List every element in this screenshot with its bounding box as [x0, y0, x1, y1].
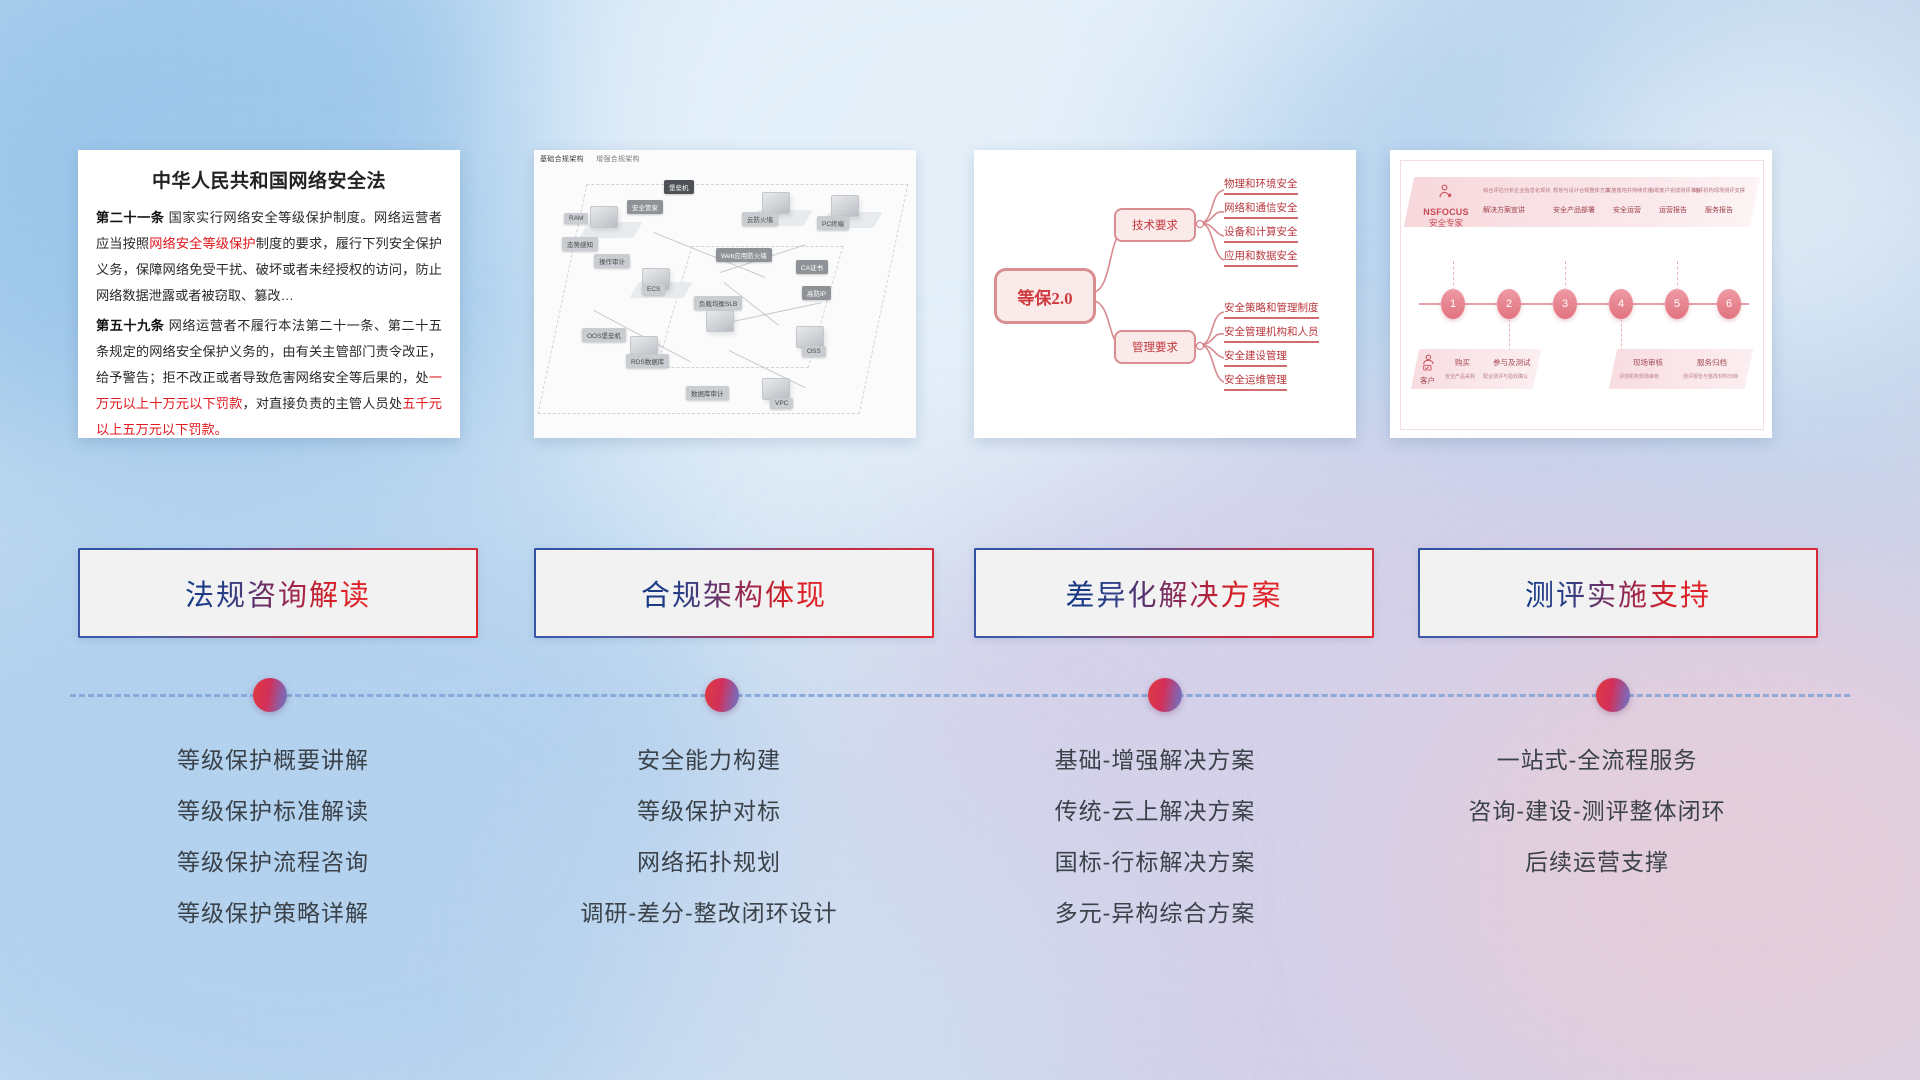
article-59-text-b: ，对直接负责的主管人员处: [242, 396, 402, 411]
architecture-node: 高防IP: [802, 286, 831, 300]
architecture-node: 数据库审计: [686, 386, 729, 400]
nsfocus-tick: [1621, 319, 1623, 351]
nsfocus-step: 1: [1441, 289, 1465, 319]
nsfocus-brand-sub: 安全专家: [1417, 217, 1475, 229]
article-59-label: 第五十九条: [96, 318, 164, 333]
architecture-tab-enhanced: 增强合规架构: [596, 156, 640, 163]
user-check-icon: [1421, 353, 1437, 371]
section-title-label: 法规咨询解读: [185, 572, 371, 614]
architecture-node: RDS数据库: [626, 354, 669, 368]
list-item: 等级保护概要讲解: [58, 735, 488, 786]
architecture-node: 态势感知: [562, 237, 598, 251]
nsfocus-footer-title: 现场审核: [1633, 357, 1663, 368]
architecture-cube: [831, 195, 859, 217]
mindmap-branch-technical: 技术要求: [1114, 208, 1196, 242]
timeline-node-1[interactable]: [253, 678, 287, 712]
architecture-cube: [762, 378, 790, 400]
nsfocus-header-title: 解决方案宣讲: [1483, 205, 1525, 215]
architecture-node: 安全管家: [627, 200, 663, 214]
list-item: 安全能力构建: [494, 735, 924, 786]
mindmap: 等保2.0 技术要求 物理和环境安全 网络和通信安全 设备和计算安全 应用和数据…: [974, 150, 1356, 438]
section-title-label: 合规架构体现: [641, 572, 827, 614]
mindmap-root-node: 等保2.0: [994, 268, 1096, 324]
nsfocus-header-subtitle: 实施落地并持续优化: [1606, 187, 1653, 194]
nsfocus-tick: [1509, 319, 1511, 351]
nsfocus-tick: [1453, 261, 1455, 291]
list-item: 传统-云上解决方案: [940, 786, 1370, 837]
nsfocus-customer-label: 客户: [1420, 375, 1435, 386]
architecture-node: 堡垒机: [664, 180, 694, 194]
timeline: [0, 660, 1920, 720]
section-detail-column-3: 基础-增强解决方案 传统-云上解决方案 国标-行标解决方案 多元-异构综合方案: [940, 735, 1370, 939]
nsfocus-step: 4: [1609, 289, 1633, 319]
nsfocus-brand: NSFOCUS 安全专家: [1417, 183, 1475, 229]
nsfocus-footer-title: 购买: [1455, 357, 1470, 368]
section-title-box-3[interactable]: 差异化解决方案: [974, 548, 1374, 638]
card-nsfocus-timeline: NSFOCUS 安全专家 综合评估分析企业信息化现状 规划与设计合规整体方案 实…: [1390, 150, 1772, 438]
list-item: 咨询-建设-测评整体闭环: [1382, 786, 1812, 837]
architecture-node: 负载均衡SLB: [694, 296, 742, 310]
list-item: 基础-增强解决方案: [940, 735, 1370, 786]
card-compliance-architecture: 基础合规架构 增强合规架构 堡垒机 安全管家 RAM 态势感知: [534, 150, 916, 438]
nsfocus-footer-sub: 安全产品采购: [1445, 373, 1475, 380]
law-article-59: 第五十九条 网络运营者不履行本法第二十一条、第二十五条规定的网络安全保护义务的，…: [96, 313, 442, 438]
law-title: 中华人民共和国网络安全法: [96, 166, 442, 193]
architecture-node: OOS堡垒机: [582, 328, 626, 342]
nsfocus-header-subtitle: 测评机构现场测评支撑: [1693, 187, 1745, 194]
mindmap-leaf: 安全策略和管理制度: [1224, 300, 1319, 319]
list-item: 多元-异构综合方案: [940, 888, 1370, 939]
mindmap-leaf: 安全建设管理: [1224, 348, 1287, 367]
architecture-cube: [706, 310, 734, 332]
timeline-dashed-line: [70, 694, 1850, 697]
timeline-node-4[interactable]: [1596, 678, 1630, 712]
nsfocus-customer-icon: [1421, 353, 1437, 376]
section-title-box-2[interactable]: 合规架构体现: [534, 548, 934, 638]
nsfocus-timeline-axis: [1419, 303, 1749, 305]
article-21-label: 第二十一条: [96, 210, 164, 225]
nsfocus-footer-sub: 测评报告与整改材料归档: [1683, 373, 1738, 380]
nsfocus-header-title: 安全运营: [1613, 205, 1641, 215]
architecture-node: OSS: [802, 346, 826, 357]
list-item: 一站式-全流程服务: [1382, 735, 1812, 786]
law-article-21: 第二十一条 国家实行网络安全等级保护制度。网络运营者应当按照网络安全等级保护制度…: [96, 205, 442, 309]
mindmap-leaf: 网络和通信安全: [1224, 200, 1298, 219]
architecture-cube: [590, 206, 618, 228]
mindmap-expand-dot: [1196, 342, 1204, 350]
nsfocus-brand-name: NSFOCUS: [1417, 207, 1475, 217]
architecture-node: ECS: [642, 284, 665, 295]
mindmap-branch-management: 管理要求: [1114, 330, 1196, 364]
card-cybersecurity-law: 中华人民共和国网络安全法 第二十一条 国家实行网络安全等级保护制度。网络运营者应…: [78, 150, 460, 438]
architecture-node: CA证书: [796, 260, 828, 274]
nsfocus-footer-band: [1609, 349, 1754, 389]
nsfocus-footer-sub: 配合测评与验收确认: [1483, 373, 1528, 380]
mindmap-leaf: 物理和环境安全: [1224, 176, 1298, 195]
timeline-node-3[interactable]: [1148, 678, 1182, 712]
section-title-label: 差异化解决方案: [1065, 572, 1282, 614]
section-title-box-4[interactable]: 测评实施支持: [1418, 548, 1818, 638]
architecture-node: 操作审计: [594, 254, 630, 268]
law-document: 中华人民共和国网络安全法 第二十一条 国家实行网络安全等级保护制度。网络运营者应…: [78, 150, 460, 438]
nsfocus-footer-title: 参与及测试: [1493, 357, 1531, 368]
nsfocus-header-title: 运营报告: [1659, 205, 1687, 215]
card-mindmap-dengbao: 等保2.0 技术要求 物理和环境安全 网络和通信安全 设备和计算安全 应用和数据…: [974, 150, 1356, 438]
architecture-tab-basic: 基础合规架构: [540, 156, 584, 163]
nsfocus-header-subtitle: 综合评估分析企业信息化现状: [1483, 187, 1550, 194]
architecture-node: VPC: [770, 398, 793, 409]
list-item: 等级保护策略详解: [58, 888, 488, 939]
section-title-row: 法规咨询解读 合规架构体现 差异化解决方案 测评实施支持: [0, 548, 1920, 640]
list-item: 网络拓扑规划: [494, 837, 924, 888]
nsfocus-step: 6: [1717, 289, 1741, 319]
section-detail-column-1: 等级保护概要讲解 等级保护标准解读 等级保护流程咨询 等级保护策略详解: [58, 735, 488, 939]
mindmap-leaf: 应用和数据安全: [1224, 248, 1298, 267]
list-item: 后续运营支撑: [1382, 837, 1812, 888]
section-detail-column-4: 一站式-全流程服务 咨询-建设-测评整体闭环 后续运营支撑: [1382, 735, 1812, 888]
nsfocus-header-title: 安全产品部署: [1553, 205, 1595, 215]
nsfocus-footer-sub: 评测机构现场审核: [1619, 373, 1659, 380]
article-21-highlight: 网络安全等级保护: [149, 236, 256, 251]
section-title-box-1[interactable]: 法规咨询解读: [78, 548, 478, 638]
nsfocus-step: 2: [1497, 289, 1521, 319]
section-detail-columns: 等级保护概要讲解 等级保护标准解读 等级保护流程咨询 等级保护策略详解 安全能力…: [0, 735, 1920, 965]
list-item: 国标-行标解决方案: [940, 837, 1370, 888]
architecture-node: PC终端: [817, 216, 849, 230]
nsfocus-header-title: 服务报告: [1705, 205, 1733, 215]
list-item: 等级保护对标: [494, 786, 924, 837]
architecture-cube: [796, 326, 824, 348]
nsfocus-frame: NSFOCUS 安全专家 综合评估分析企业信息化现状 规划与设计合规整体方案 实…: [1400, 160, 1764, 430]
mindmap-leaf: 安全运维管理: [1224, 372, 1287, 391]
architecture-tabs: 基础合规架构 增强合规架构: [540, 154, 650, 164]
nsfocus-footer-title: 服务归档: [1697, 357, 1727, 368]
architecture-node: RAM: [564, 213, 588, 224]
list-item: 等级保护流程咨询: [58, 837, 488, 888]
section-title-label: 测评实施支持: [1525, 572, 1711, 614]
list-item: 调研-差分-整改闭环设计: [494, 888, 924, 939]
timeline-node-2[interactable]: [705, 678, 739, 712]
detail-list: 一站式-全流程服务 咨询-建设-测评整体闭环 后续运营支撑: [1382, 735, 1812, 888]
nsfocus-diagram: NSFOCUS 安全专家 综合评估分析企业信息化现状 规划与设计合规整体方案 实…: [1390, 150, 1772, 438]
section-detail-column-2: 安全能力构建 等级保护对标 网络拓扑规划 调研-差分-整改闭环设计: [494, 735, 924, 939]
illustration-card-row: 中华人民共和国网络安全法 第二十一条 国家实行网络安全等级保护制度。网络运营者应…: [0, 150, 1920, 445]
nsfocus-tick: [1677, 261, 1679, 291]
nsfocus-step: 3: [1553, 289, 1577, 319]
architecture-cube: [762, 192, 790, 214]
nsfocus-step: 5: [1665, 289, 1689, 319]
user-star-icon: [1437, 183, 1455, 201]
detail-list: 等级保护概要讲解 等级保护标准解读 等级保护流程咨询 等级保护策略详解: [58, 735, 488, 939]
list-item: 等级保护标准解读: [58, 786, 488, 837]
mindmap-expand-dot: [1196, 220, 1204, 228]
detail-list: 安全能力构建 等级保护对标 网络拓扑规划 调研-差分-整改闭环设计: [494, 735, 924, 939]
detail-list: 基础-增强解决方案 传统-云上解决方案 国标-行标解决方案 多元-异构综合方案: [940, 735, 1370, 939]
mindmap-leaf: 安全管理机构和人员: [1224, 324, 1319, 343]
nsfocus-tick: [1565, 261, 1567, 291]
mindmap-leaf: 设备和计算安全: [1224, 224, 1298, 243]
architecture-node: 云防火墙: [742, 212, 778, 226]
architecture-diagram: 基础合规架构 增强合规架构 堡垒机 安全管家 RAM 态势感知: [534, 150, 916, 438]
nsfocus-header-subtitle: 规划与设计合规整体方案: [1553, 187, 1610, 194]
architecture-node: Web应用防火墙: [716, 248, 772, 262]
